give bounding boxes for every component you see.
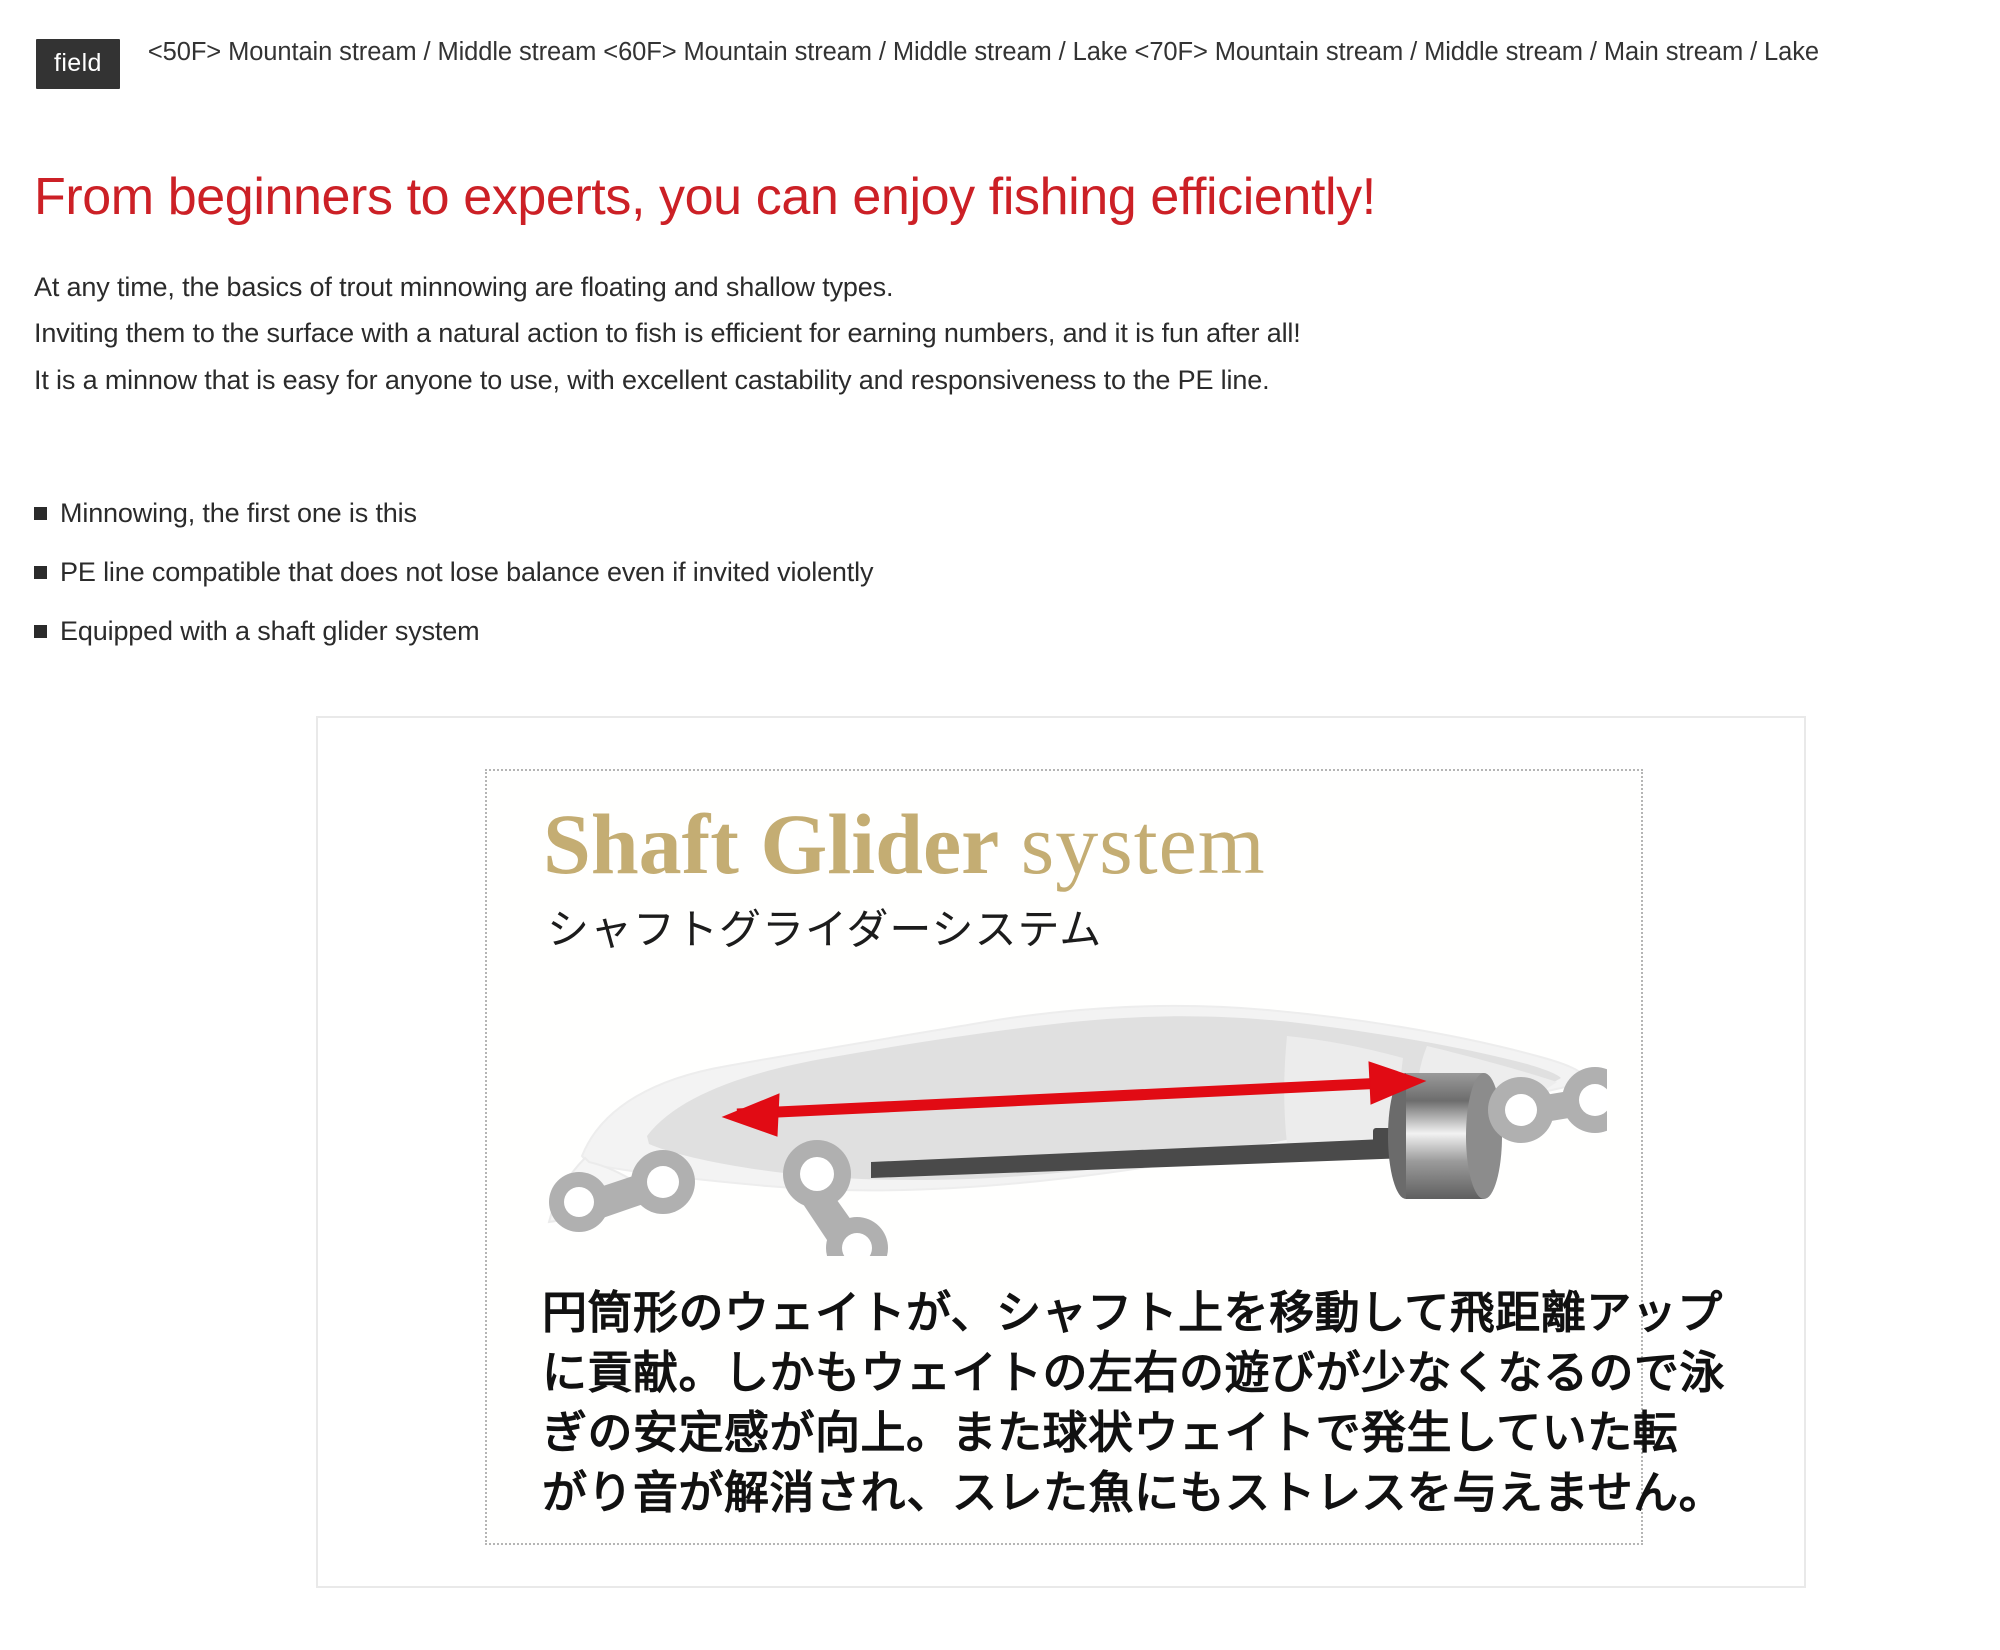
list-item-label: Equipped with a shaft glider system — [60, 618, 479, 645]
square-bullet-icon — [34, 507, 47, 520]
square-bullet-icon — [34, 625, 47, 638]
description-line: がり音が解消され、スレた魚にもストレスを与えません。 — [542, 1463, 1725, 1523]
list-item: Equipped with a shaft glider system — [34, 618, 873, 645]
field-info-row: field <50F> Mountain stream / Middle str… — [36, 34, 1976, 89]
cylindrical-weight — [1388, 1073, 1502, 1199]
intro-paragraph: At any time, the basics of trout minnowi… — [34, 264, 1301, 403]
description-line: に貢献。しかもウェイトの左右の遊びが少なくなるので泳 — [542, 1343, 1725, 1403]
shaft-glider-subtitle: シャフトグライダーシステム — [547, 909, 1102, 951]
list-item: Minnowing, the first one is this — [34, 500, 873, 527]
list-item-label: Minnowing, the first one is this — [60, 500, 417, 527]
paragraph-line: It is a minnow that is easy for anyone t… — [34, 357, 1301, 403]
description-line: 円筒形のウェイトが、シャフト上を移動して飛距離アップ — [542, 1283, 1725, 1343]
shaft-glider-description: 円筒形のウェイトが、シャフト上を移動して飛距離アップ に貢献。しかもウェイトの左… — [542, 1283, 1725, 1522]
lure-cutaway-diagram — [527, 986, 1607, 1256]
list-item: PE line compatible that does not lose ba… — [34, 559, 873, 586]
field-badge: field — [36, 39, 120, 89]
shaft-glider-title-light: system — [1021, 796, 1266, 892]
feature-bullet-list: Minnowing, the first one is this PE line… — [34, 500, 873, 677]
paragraph-line: Inviting them to the surface with a natu… — [34, 310, 1301, 356]
shaft-glider-panel: Shaft Glider system シャフトグライダーシステム — [316, 716, 1806, 1588]
page-headline: From beginners to experts, you can enjoy… — [34, 167, 1376, 228]
list-item-label: PE line compatible that does not lose ba… — [60, 559, 873, 586]
field-description: <50F> Mountain stream / Middle stream <6… — [148, 34, 1976, 71]
shaft-glider-title: Shaft Glider system — [543, 801, 1266, 887]
shaft-glider-title-bold: Shaft Glider — [543, 796, 999, 892]
description-line: ぎの安定感が向上。また球状ウェイトで発生していた転 — [542, 1403, 1725, 1463]
square-bullet-icon — [34, 566, 47, 579]
shaft-glider-inner-frame: Shaft Glider system シャフトグライダーシステム — [485, 769, 1643, 1545]
paragraph-line: At any time, the basics of trout minnowi… — [34, 264, 1301, 310]
